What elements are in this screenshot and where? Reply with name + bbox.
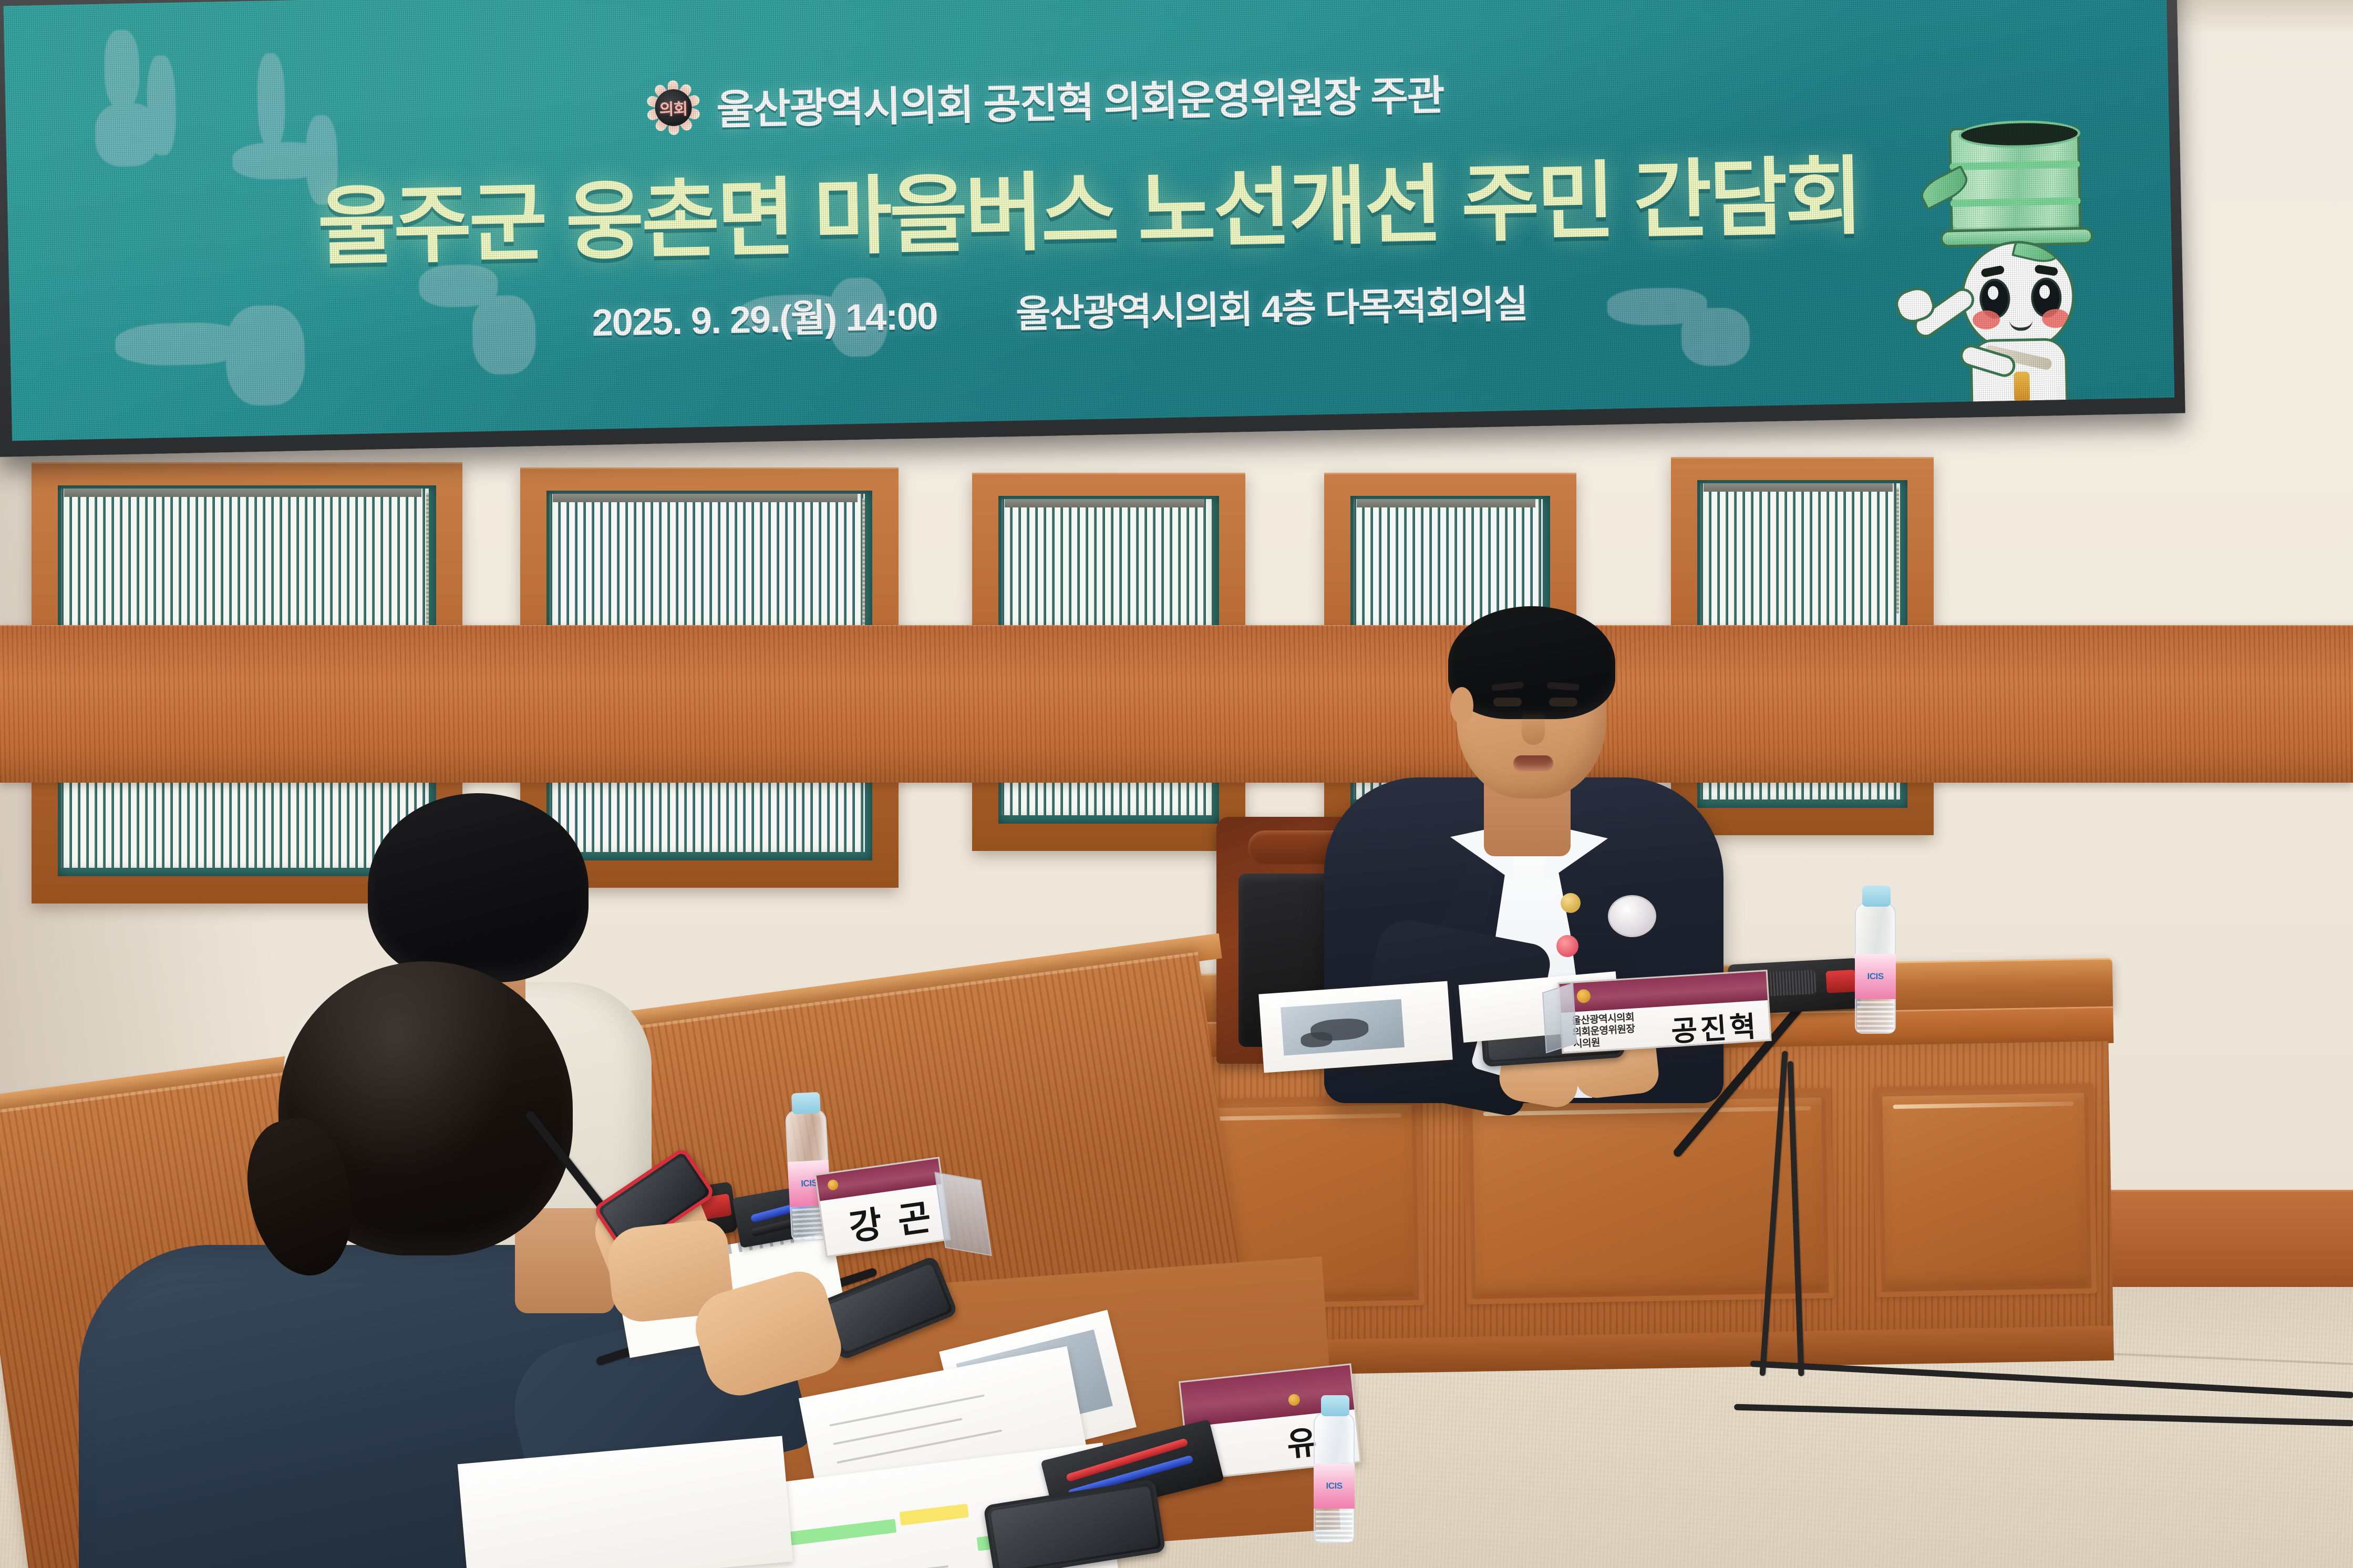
speaker-nose (1522, 710, 1545, 745)
bottle-cap-center (1321, 1395, 1349, 1416)
nameplate-name: 공진혁 (1670, 1003, 1760, 1050)
wall-wood-band-upper (0, 625, 2353, 783)
mascot-forehead-leaf (2011, 240, 2060, 266)
nameplate-left: 강 곤 (814, 1157, 951, 1258)
bamboo-mascot-icon (1900, 121, 2126, 399)
meeting-room-photo: 의회 울산광역시의회 공진혁 의회운영위원장 주관 울주군 웅촌면 마을버스 노… (0, 0, 2353, 1568)
nameplate-stand-chairman (1542, 983, 1577, 1053)
participant-back-hair (368, 793, 589, 982)
mascot-cheek-right (2042, 309, 2070, 328)
led-event-title: 울주군 웅촌면 마을버스 노선개선 주민 간담회 (316, 127, 1862, 282)
mascot-brow-left (1980, 265, 2005, 278)
nameplate-seal-icon-left (827, 1179, 839, 1191)
mascot-bamboo-hat (1948, 125, 2082, 238)
document-photo-thumb (1281, 999, 1405, 1056)
water-bottle-chairman[interactable]: ICIS (1855, 902, 1896, 1034)
mascot-face (1960, 240, 2076, 354)
nameplate-chairman: 울산광역시의회 의회운영위원장 시의원 공진혁 (1557, 970, 1772, 1054)
speaker-mic-windscreen (1608, 895, 1656, 937)
nameplate-subtext: 울산광역시의회 의회운영위원장 시의원 (1572, 1010, 1669, 1051)
led-bezel: 의회 울산광역시의회 공진혁 의회운영위원장 주관 울주군 웅촌면 마을버스 노… (0, 0, 2185, 457)
bottle-cap-left (791, 1092, 821, 1115)
council-emblem-icon: 의회 (645, 80, 701, 136)
bottle-brand-text-center: ICIS (1314, 1463, 1355, 1509)
speaker-eye-left (1493, 698, 1522, 707)
blind-headrail-4 (1357, 499, 1535, 507)
led-datetime: 2025. 9. 29.(월) 14:00 (592, 285, 938, 347)
blind-headrail-2 (553, 494, 858, 502)
emblem-label: 의회 (659, 96, 687, 119)
blind-chain-2[interactable] (862, 498, 865, 640)
bottle-brand-text: ICIS (1855, 954, 1896, 999)
speaker-eye-right (1549, 698, 1577, 707)
nameplate-name-left: 강 곤 (845, 1188, 937, 1251)
participant-front-hair (278, 961, 573, 1255)
bottle-label: ICIS (1855, 954, 1896, 999)
led-location: 울산광역시의회 4층 다목적회의실 (1015, 273, 1528, 338)
blind-headrail-5 (1704, 483, 1893, 492)
bottle-cap (1862, 886, 1891, 907)
podium-document-sheet (1258, 981, 1453, 1073)
led-host-line: 울산광역시의회 공진혁 의회운영위원장 주관 (716, 63, 1444, 137)
led-content: 의회 울산광역시의회 공진혁 의회운영위원장 주관 울주군 웅촌면 마을버스 노… (3, 0, 2174, 441)
mascot-mouth (2009, 320, 2032, 331)
blind-chain-5[interactable] (1896, 487, 1899, 614)
led-screen: 의회 울산광역시의회 공진혁 의회운영위원장 주관 울주군 웅촌면 마을버스 노… (3, 0, 2174, 441)
podium-panel-far-right (1873, 1083, 2097, 1297)
water-bottle-center[interactable]: ICIS (1314, 1412, 1355, 1543)
blind-headrail-3 (1005, 499, 1204, 507)
blind-headrail-1 (64, 489, 421, 497)
speaker-lapel-badge-flower (1556, 935, 1578, 957)
led-details-row: 2025. 9. 29.(월) 14:00 울산광역시의회 4층 다목적회의실 (592, 273, 1528, 347)
bottle-label-center: ICIS (1314, 1463, 1355, 1509)
speaker-lapel-badge-gold (1561, 893, 1581, 913)
mascot-brow-right (2034, 264, 2058, 276)
mascot-cheek-left (1973, 310, 2000, 329)
speaker-ear (1450, 687, 1473, 724)
led-display: 의회 울산광역시의회 공진혁 의회운영위원장 주관 울주군 웅촌면 마을버스 노… (0, 0, 2185, 457)
nameplate-seal-icon (1576, 989, 1591, 1004)
speaker-mouth (1513, 755, 1553, 771)
nameplate-seal-icon-center (1288, 1394, 1301, 1406)
led-line1-row: 의회 울산광역시의회 공진혁 의회운영위원장 주관 (645, 63, 1444, 138)
